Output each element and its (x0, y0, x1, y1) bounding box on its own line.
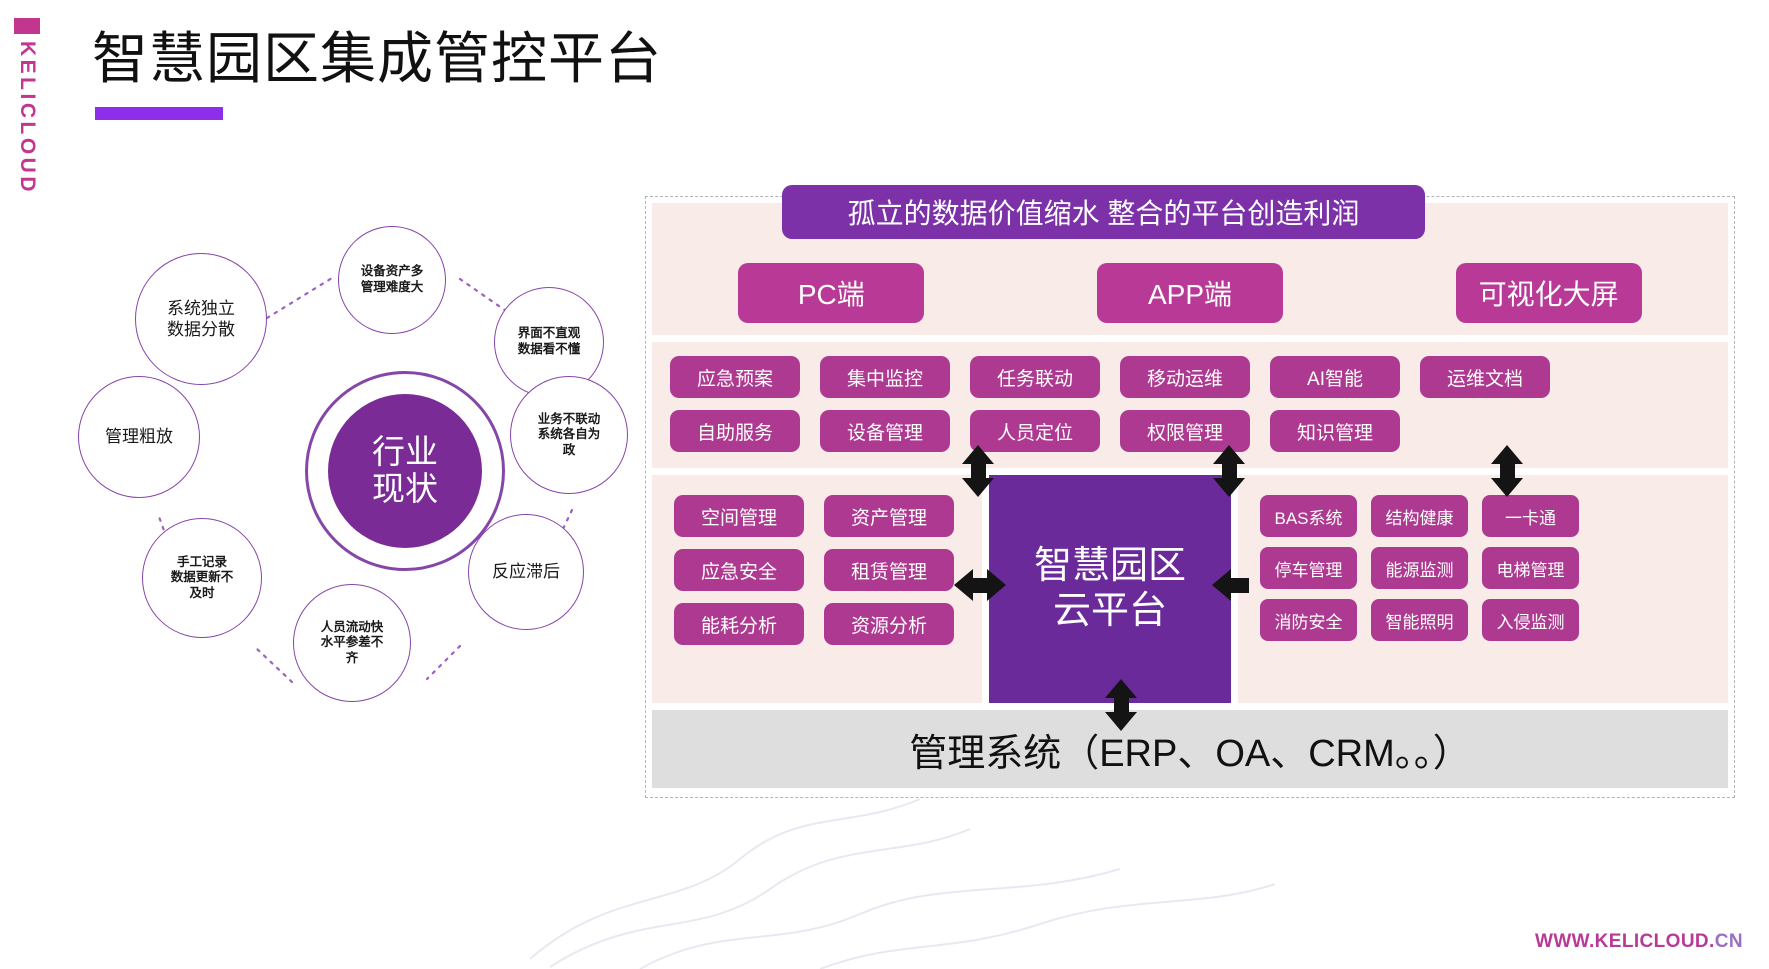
module-device-management[interactable]: 设备管理 (820, 410, 950, 452)
module-emergency-plan[interactable]: 应急预案 (670, 356, 800, 398)
app-energy-analysis[interactable]: 能耗分析 (674, 603, 804, 645)
client-dashboard[interactable]: 可视化大屏 (1456, 263, 1642, 323)
architecture-diagram: 孤立的数据价值缩水 整合的平台创造利润 PC端 APP端 可视化大屏 应急预案 … (645, 196, 1735, 798)
arrow-left-right-apps (954, 569, 1006, 601)
subsystem-elevator[interactable]: 电梯管理 (1482, 547, 1579, 589)
module-row-2: 自助服务 设备管理 人员定位 权限管理 知识管理 (670, 410, 1710, 452)
satellite-business-not-linked: 业务不联动系统各自为政 (510, 376, 628, 494)
app-asset-management[interactable]: 资产管理 (824, 495, 954, 537)
subsystem-row-2: 停车管理 能源监测 电梯管理 (1260, 547, 1728, 589)
management-systems-footer: 管理系统（ERP、OA、CRM。。） (652, 710, 1728, 788)
brand-logo: KELICLOUD (14, 18, 40, 195)
arrow-up-down-center (1213, 445, 1245, 497)
subsystem-fire-safety[interactable]: 消防安全 (1260, 599, 1357, 641)
arrow-up-down-right (1491, 445, 1523, 497)
module-layer: 应急预案 集中监控 任务联动 移动运维 AI智能 运维文档 自助服务 设备管理 … (652, 342, 1728, 468)
watermark: WWW.KELICLOUD.CN (1535, 931, 1743, 953)
client-layer: 孤立的数据价值缩水 整合的平台创造利润 PC端 APP端 可视化大屏 (652, 203, 1728, 335)
app-resource-analysis[interactable]: 资源分析 (824, 603, 954, 645)
satellite-coarse-management: 管理粗放 (78, 376, 200, 498)
satellite-label: 设备资产多管理难度大 (357, 264, 428, 295)
module-central-monitoring[interactable]: 集中监控 (820, 356, 950, 398)
current-state-diagram: 行业现状 设备资产多管理难度大 界面不直观数据看不懂 业务不联动系统各自为政 反… (60, 196, 640, 716)
subsystem-row-3: 消防安全 智能照明 入侵监测 (1260, 599, 1728, 641)
slide-canvas: KELICLOUD 智慧园区集成管控平台 行业现状 设备资产多管理难度大 (0, 0, 1769, 969)
subsystem-energy-monitoring[interactable]: 能源监测 (1371, 547, 1468, 589)
satellite-label: 系统独立数据分散 (163, 298, 239, 341)
app-row-3: 能耗分析 资源分析 (674, 603, 982, 645)
app-row-2: 应急安全 租赁管理 (674, 549, 982, 591)
arrow-left-subsystems (1212, 569, 1249, 601)
app-lease-management[interactable]: 租赁管理 (824, 549, 954, 591)
title-underline (95, 107, 223, 120)
satellite-label: 手工记录数据更新不及时 (167, 555, 238, 602)
module-ai[interactable]: AI智能 (1270, 356, 1400, 398)
value-banner: 孤立的数据价值缩水 整合的平台创造利润 (782, 185, 1425, 239)
client-pc[interactable]: PC端 (738, 263, 924, 323)
app-emergency-safety[interactable]: 应急安全 (674, 549, 804, 591)
satellite-label: 人员流动快水平参差不齐 (317, 620, 388, 667)
satellite-isolated-systems: 系统独立数据分散 (135, 253, 267, 385)
subsystem-column: BAS系统 结构健康 一卡通 停车管理 能源监测 电梯管理 消防安全 智能照明 … (1238, 475, 1728, 703)
module-ops-docs[interactable]: 运维文档 (1420, 356, 1550, 398)
satellite-label: 业务不联动系统各自为政 (534, 412, 605, 459)
satellite-label: 界面不直观数据看不懂 (514, 326, 585, 357)
management-systems-label: 管理系统（ERP、OA、CRM。。） (909, 722, 1471, 777)
module-task-linkage[interactable]: 任务联动 (970, 356, 1100, 398)
satellite-staff-turnover: 人员流动快水平参差不齐 (293, 584, 411, 702)
module-mobile-ops[interactable]: 移动运维 (1120, 356, 1250, 398)
satellite-asset-difficulty: 设备资产多管理难度大 (338, 226, 446, 334)
application-column: 空间管理 资产管理 应急安全 租赁管理 能耗分析 资源分析 (652, 475, 982, 703)
app-row-1: 空间管理 资产管理 (674, 495, 982, 537)
center-label: 行业现状 (372, 434, 438, 508)
app-space-management[interactable]: 空间管理 (674, 495, 804, 537)
core-layer: 空间管理 资产管理 应急安全 租赁管理 能耗分析 资源分析 智慧园区云平台 BA… (652, 475, 1728, 703)
arrow-up-down-left (962, 445, 994, 497)
subsystem-bas[interactable]: BAS系统 (1260, 495, 1357, 537)
satellite-slow-response: 反应滞后 (468, 514, 584, 630)
subsystem-row-1: BAS系统 结构健康 一卡通 (1260, 495, 1728, 537)
subsystem-access-card[interactable]: 一卡通 (1482, 495, 1579, 537)
subsystem-intrusion-detection[interactable]: 入侵监测 (1482, 599, 1579, 641)
subsystem-smart-lighting[interactable]: 智能照明 (1371, 599, 1468, 641)
brand-accent-bar (14, 18, 40, 34)
client-app[interactable]: APP端 (1097, 263, 1283, 323)
module-self-service[interactable]: 自助服务 (670, 410, 800, 452)
brand-name: KELICLOUD (15, 41, 39, 195)
core-platform: 智慧园区云平台 (989, 475, 1231, 703)
module-row-1: 应急预案 集中监控 任务联动 移动运维 AI智能 运维文档 (670, 356, 1710, 398)
subsystem-structural-health[interactable]: 结构健康 (1371, 495, 1468, 537)
module-knowledge-management[interactable]: 知识管理 (1270, 410, 1400, 452)
center-circle: 行业现状 (328, 394, 482, 548)
satellite-label: 管理粗放 (101, 426, 177, 447)
page-title: 智慧园区集成管控平台 (92, 14, 662, 95)
subsystem-parking[interactable]: 停车管理 (1260, 547, 1357, 589)
satellite-manual-records: 手工记录数据更新不及时 (142, 518, 262, 638)
arrow-up-down-footer (1105, 679, 1137, 731)
satellite-label: 反应滞后 (488, 561, 564, 582)
core-platform-label: 智慧园区云平台 (1034, 544, 1186, 634)
